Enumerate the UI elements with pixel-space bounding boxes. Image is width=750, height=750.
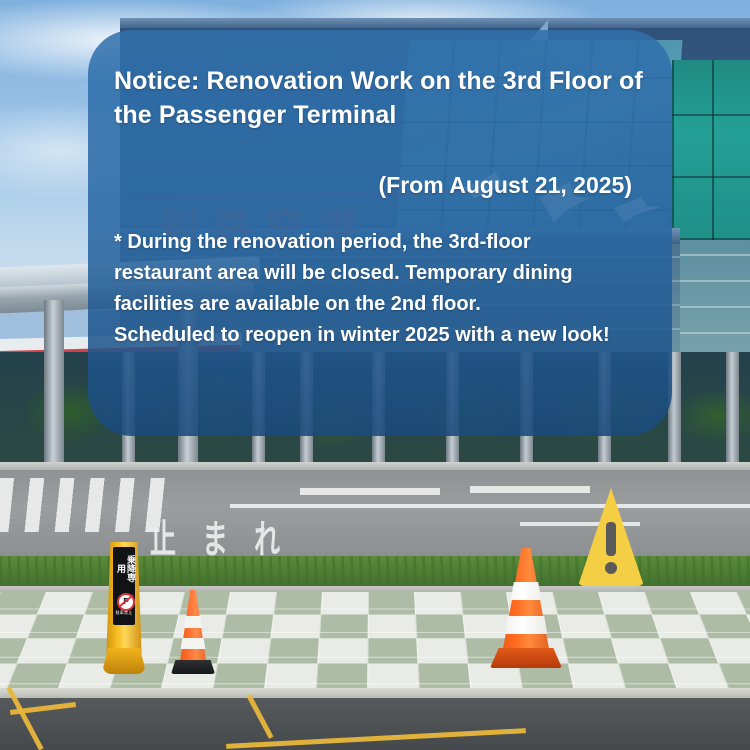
notice-body-line: facilities are available on the 2nd floo…	[114, 289, 644, 320]
large-traffic-cone	[488, 548, 564, 670]
notice-effective-date: (From August 21, 2025)	[114, 172, 632, 199]
notice-body-line: * During the renovation period, the 3rd-…	[114, 227, 644, 258]
cone-reflective-band	[488, 582, 564, 600]
small-traffic-cone	[170, 590, 216, 676]
bollard-sign: 乗降専用 P 駐車禁止	[104, 542, 144, 676]
cone-reflective-band	[170, 638, 216, 649]
notice-title: Notice: Renovation Work on the 3rd Floor…	[114, 64, 644, 132]
notice-overlay-panel: Notice: Renovation Work on the 3rd Floor…	[88, 30, 672, 436]
road-lane-marking	[470, 486, 590, 493]
cone-body	[488, 548, 564, 656]
road-lane-marking	[300, 488, 440, 495]
road-surface-text: 止まれ	[150, 510, 490, 549]
building-teal-glass-panel	[672, 60, 750, 240]
parking-asphalt	[0, 698, 750, 750]
bollard-sign-panel: 乗降専用 P 駐車禁止	[113, 547, 135, 625]
airport-notice-image: くしろくうこう 釧路空港 止まれ	[0, 0, 750, 750]
notice-body-line: Scheduled to reopen in winter 2025 with …	[114, 320, 644, 351]
road-center-line	[230, 504, 750, 508]
building-roofline	[120, 18, 750, 28]
cone-base	[171, 660, 215, 674]
cone-base	[490, 648, 562, 668]
no-parking-icon: P	[117, 593, 135, 611]
bollard-sub-label: 駐車禁止	[113, 610, 135, 616]
terminal-column	[726, 352, 739, 470]
notice-body: * During the renovation period, the 3rd-…	[114, 227, 644, 351]
bollard-base	[103, 648, 145, 674]
crosswalk-markings	[0, 478, 175, 532]
exclamation-icon	[606, 522, 616, 556]
warning-triangle-sign	[578, 488, 644, 586]
cone-reflective-band	[488, 616, 564, 634]
notice-body-line: restaurant area will be closed. Temporar…	[114, 258, 644, 289]
cone-body	[170, 590, 216, 666]
bollard-label: 乗降専用	[113, 551, 135, 585]
exclamation-dot-icon	[605, 562, 617, 574]
canopy-column	[44, 300, 64, 468]
building-lower-right-cladding	[672, 240, 750, 360]
cone-reflective-band	[170, 616, 216, 628]
